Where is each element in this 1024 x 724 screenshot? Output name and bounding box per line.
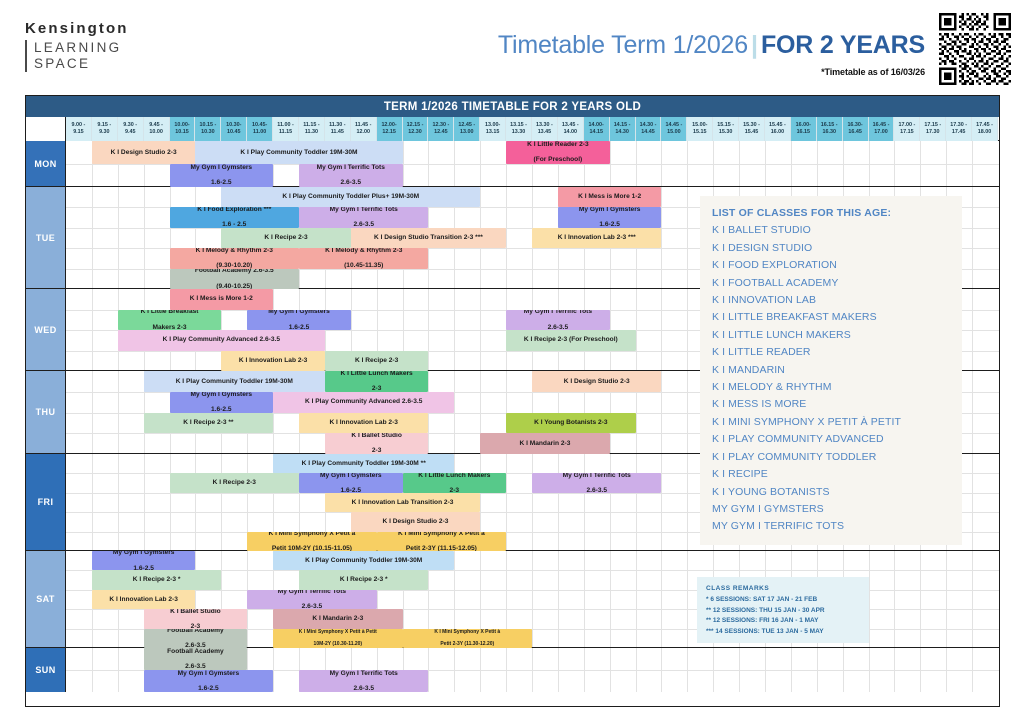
qr-code-icon[interactable] [939,13,1011,85]
time-slot-start: 12.30 - [432,122,449,130]
time-slot-header: 13.30 -13.45 [532,117,558,141]
class-event-line: K I Little Breakfast [141,310,199,316]
class-list-item: K I FOOTBALL ACADEMY [712,275,950,292]
class-event[interactable]: K I Little Reader 2-3(For Preschool) [506,141,610,164]
class-event-line: Football Academy [167,629,224,635]
class-event[interactable]: K I Melody & Rhythm 2-3(10.45-11.35) [299,248,428,268]
grid-vline [687,187,688,288]
day-row-mon: MONK I Design Studio 2-3K I Play Communi… [26,141,999,187]
class-event[interactable]: K I Mandarin 2-3 [273,609,402,628]
class-event[interactable]: K I Innovation Lab 2-3 [221,351,325,372]
class-event-line: 2-3 [191,623,201,629]
class-event[interactable]: K I Little BreakfastMakers 2-3 [118,310,222,331]
class-event[interactable]: K I Play Community Toddler 19M-30M [273,551,454,570]
class-event-line: K I Recipe 2-3 ** [183,419,233,427]
grid-vline [506,454,507,550]
class-event-line: Football Academy 2.6-3.5 [195,269,274,275]
grid-vline [920,551,921,647]
class-event-line: (For Preschool) [534,156,583,164]
title-age-group: FOR 2 YEARS [761,31,925,59]
time-slot-header: 15.15 -15.30 [713,117,739,141]
class-event[interactable]: K I Mini Symphony X Petit àPetit 2-3Y (1… [403,629,532,648]
class-event-line: K I Recipe 2-3 (For Preschool) [524,336,618,344]
time-slot-end: 17.15 [900,129,914,137]
brand-logo: Kensington LEARNING SPACE [25,20,129,72]
class-event[interactable]: K I Food Exploration ***1.6 - 2.5 [170,207,299,227]
class-event-line: K I Ballet Studio [170,609,221,615]
time-slot-start: 9.45 - [149,122,163,130]
class-event-line: K I Ballet Studio [351,433,402,440]
time-slot-end: 12.45 [434,129,448,137]
class-event-line: My Gym I Terrific Tots [330,207,398,213]
time-slot-start: 14.15 - [614,122,631,130]
time-slot-start: 15.15 - [717,122,734,130]
class-event-line: K I Innovation Lab 2-3 *** [558,234,636,242]
time-slot-start: 14.45 - [665,122,682,130]
class-event-line: 2.6-3.5 [353,685,374,692]
grid-vline [170,454,171,550]
class-event-line: K I Mini Symphony X Petit à Petit [299,629,377,635]
class-event[interactable]: K I Recipe 2-3 [170,473,299,492]
class-event[interactable]: My Gym I Terrific Tots2.6-3.5 [506,310,610,331]
time-slot-header: 10.45-11.00 [247,117,273,141]
class-event-line: K I Innovation Lab 2-3 [239,357,308,365]
time-slot-start: 14.00- [589,122,604,130]
time-slot-end: 11.30 [305,129,318,137]
time-slot-end: 17.45 [952,129,966,137]
time-slot-header: 16.45 -17.00 [869,117,895,141]
class-list-item: K I DESIGN STUDIO [712,240,950,257]
day-row-sun: SUNFootball Academy2.6-3.5My Gym I Gymst… [26,648,999,692]
class-event[interactable]: K I Recipe 2-3 (For Preschool) [506,330,635,351]
class-event[interactable]: K I Play Community Toddler 19M-30M ** [273,454,454,473]
class-event-line: K I Mini Symphony X Petit à [434,629,500,635]
class-event[interactable]: My Gym I Gymsters1.6-2.5 [558,207,662,227]
time-slot-header: 12.45 -13.00 [454,117,480,141]
class-event[interactable]: K I Ballet Studio2-3 [144,609,248,628]
time-slot-start: 15.00- [692,122,707,130]
time-slot-end: 12.30 [408,129,422,137]
grid-vline [144,454,145,550]
class-event[interactable]: K I Design Studio Transition 2-3 *** [351,228,506,248]
class-event-line: K I Design Studio 2-3 [111,149,177,157]
class-event-line: K I Mandarin 2-3 [519,440,570,448]
grid-vline [118,454,119,550]
class-event-line: Football Academy [167,648,224,655]
grid-vline [687,551,688,647]
time-slot-header: 13.45 -14.00 [558,117,584,141]
time-slot-start: 14.30 - [640,122,657,130]
class-list-item: K I PLAY COMMUNITY TODDLER [712,449,950,466]
time-slot-header: 14.30 -14.45 [636,117,662,141]
time-slot-header: 16.30-16.45 [843,117,869,141]
class-event-line: K I Innovation Lab 2-3 [329,419,398,427]
time-slot-end: 11.00 [253,129,266,137]
class-event-line: K I Mandarin 2-3 [312,615,363,623]
class-event[interactable]: K I Recipe 2-3 [221,228,350,248]
class-list-item: MY GYM I GYMSTERS [712,501,950,518]
class-list-item: K I FOOD EXPLORATION [712,257,950,274]
time-slot-end: 16.45 [848,129,862,137]
grid-vline [195,454,196,550]
class-list-heading: LIST OF CLASSES FOR THIS AGE: [712,205,950,222]
class-event-line: K I Play Community Toddler 19M-30M ** [302,460,426,468]
class-event-line: K I Design Studio 2-3 [383,518,449,526]
time-slot-end: 15.00 [667,129,681,137]
class-event[interactable]: My Gym I Terrific Tots2.6-3.5 [532,473,661,492]
class-event-line: My Gym I Terrific Tots [317,164,385,172]
class-list-item: K I MINI SYMPHONY X PETIT À PETIT [712,414,950,431]
grid-vline [558,551,559,647]
time-slot-start: 15.45 - [769,122,786,130]
time-slot-header: 13.00-13.15 [480,117,506,141]
time-slot-start: 11.15 - [303,122,320,130]
class-event[interactable]: My Gym I Gymsters1.6-2.5 [247,310,351,331]
class-event[interactable]: K I Design Studio 2-3 [92,141,196,164]
class-event-line: K I Play Community Advanced 2.6-3.5 [163,336,280,344]
class-event[interactable]: K I Ballet Studio2-3 [325,433,429,454]
time-slot-end: 14.15 [589,129,603,137]
class-event-line: K I Mini Symphony X Petit à [269,532,356,538]
grid-vline [661,551,662,647]
time-slot-end: 13.15 [486,129,500,137]
time-slot-header: 15.45 -16.00 [765,117,791,141]
grid-vline [972,551,973,647]
time-slot-start: 11.00 - [277,122,294,130]
class-event-line: 2.6-3.5 [586,487,607,493]
time-slot-end: 17.00 [874,129,888,137]
class-event-line: K I Mess is More 1-2 [578,193,641,201]
time-slot-end: 16.15 [797,129,811,137]
class-event-line: 2.6-3.5 [353,221,374,227]
time-slot-end: 14.00 [564,129,578,137]
time-slot-start: 16.00- [796,122,811,130]
class-event-line: My Gym I Gymsters [579,207,641,213]
grid-vline [610,454,611,550]
time-slot-end: 9.45 [125,129,136,137]
class-event[interactable]: K I Mini Symphony X Petit àPetit 10M-2Y … [247,532,376,551]
grid-vline [221,454,222,550]
class-event-line: (10.45-11.35) [344,262,383,268]
class-event-line: 2.6-3.5 [185,663,206,670]
class-event-line: K I Little Lunch Makers [341,371,413,378]
time-slot-header: 10.00-10.15 [170,117,196,141]
grid-vline [506,187,507,288]
class-event[interactable]: My Gym I Gymsters1.6-2.5 [170,392,274,413]
time-slot-start: 10.00- [174,122,189,130]
class-event[interactable]: K I Design Studio 2-3 [532,371,661,392]
class-event-line: K I Melody & Rhythm 2-3 [196,248,273,254]
day-label-fri: FRI [26,454,66,550]
class-event-line: My Gym I Gymsters [191,392,253,399]
brand-subtitle: LEARNING SPACE [25,40,129,72]
time-slot-header: 9.15 -9.30 [92,117,118,141]
time-slot-start: 17.00 - [898,122,915,130]
time-slot-start: 17.45 - [976,122,993,130]
class-event-line: My Gym I Gymsters [320,473,382,479]
title-term: Timetable Term 1/2026 [498,31,748,59]
time-slot-start: 15.30 - [743,122,760,130]
time-slot-header: 10.30-10.45 [221,117,247,141]
class-event-line: 1.6-2.5 [599,221,620,227]
class-event-line: K I Recipe 2-3 * [340,576,388,584]
class-event[interactable]: K I Play Community Toddler 19M-30M [144,371,325,392]
time-slot-header: 13.15 -13.30 [506,117,532,141]
grid-vline [532,551,533,647]
title-line: Timetable Term 1/2026|FOR 2 YEARS [405,30,925,61]
class-event-line: K I Play Community Advanced 2.6-3.5 [305,398,422,406]
class-event[interactable]: K I Mini Symphony X Petit à Petit10M-2Y … [273,629,402,648]
time-slot-header: 14.15 -14.30 [610,117,636,141]
time-slot-end: 12.00 [356,129,370,137]
time-slot-start: 9.30 - [123,122,137,130]
time-slot-start: 10.15 - [199,122,216,130]
class-event-line: (9.30-10.20) [216,262,252,268]
time-slot-header: 16.00-16.15 [791,117,817,141]
remarks-item: ** 12 SESSIONS: FRI 16 JAN - 1 MAY [706,616,860,627]
time-slot-header: 15.30 -15.45 [739,117,765,141]
class-event[interactable]: My Gym I Terrific Tots2.6-3.5 [299,670,428,692]
time-header-row: 9.00 -9.159.15 -9.309.30 -9.459.45 -10.0… [26,117,999,141]
time-slot-header: 11.30 -11.45 [325,117,351,141]
time-slot-header: 15.00-15.15 [687,117,713,141]
class-list-item: K I LITTLE BREAKFAST MAKERS [712,309,950,326]
class-event-line: My Gym I Gymsters [268,310,330,316]
grid-vline [894,551,895,647]
time-slot-end: 13.45 [538,129,552,137]
class-event-line: 10M-2Y (10.30-11.20) [314,641,363,647]
class-event[interactable]: Football Academy 2.6-3.5(9.40-10.25) [170,269,299,289]
time-slot-start: 11.45 - [355,122,372,130]
class-event-line: K I Innovation Lab 2-3 [109,596,178,604]
class-list-item: K I MELODY & RHYTHM [712,379,950,396]
class-event-line: K I Little Reader 2-3 [527,141,589,149]
class-event[interactable]: K I Play Community Toddler 19M-30M [195,141,402,164]
class-event-line: 1.6-2.5 [341,487,362,493]
time-slot-end: 10.45 [227,129,241,137]
time-slot-start: 16.15 - [821,122,838,130]
class-event[interactable]: K I Young Botanists 2-3 [506,413,635,434]
grid-vline [584,551,585,647]
time-slot-header: 14.00-14.15 [584,117,610,141]
grid-vline [532,454,533,550]
time-slot-end: 11.45 [331,129,344,137]
class-event-line: 1.6-2.5 [198,685,219,692]
time-slot-end: 14.30 [615,129,629,137]
time-slot-header: 17.45 -18.00 [972,117,998,141]
class-event-line: K I Play Community Toddler 19M-30M [176,378,293,386]
brand-name: Kensington [25,20,129,37]
class-event[interactable]: K I Recipe 2-3 * [92,570,221,589]
class-event[interactable]: Football Academy2.6-3.5 [144,648,248,670]
time-slot-end: 13.30 [512,129,526,137]
time-slot-start: 10.45- [252,122,267,130]
class-event-line: 2-3 [372,447,382,454]
class-event-line: Petit 2-3Y (11.30-12.20) [440,641,494,647]
class-event[interactable]: My Gym I Terrific Tots2.6-3.5 [299,164,403,187]
time-slot-header: 12.00-12.15 [377,117,403,141]
time-slot-start: 16.45 - [873,122,890,130]
class-event[interactable]: K I Mess is More 1-2 [170,289,274,310]
time-slot-end: 10.00 [149,129,163,137]
class-event[interactable]: K I Melody & Rhythm 2-3(9.30-10.20) [170,248,299,268]
time-slot-header: 17.00 -17.15 [894,117,920,141]
class-event[interactable]: My Gym I Terrific Tots2.6-3.5 [299,207,428,227]
grid-vline [661,187,662,288]
class-event[interactable]: K I Design Studio 2-3 [351,512,480,531]
time-slot-end: 10.15 [175,129,189,137]
class-event[interactable]: My Gym I Terrific Tots2.6-3.5 [247,590,376,609]
class-event-line: My Gym I Terrific Tots [278,590,346,596]
grid-vline [687,454,688,550]
class-event[interactable]: K I Little Lunch Makers2-3 [403,473,507,492]
class-event-line: K I Mess is More 1-2 [190,295,253,303]
day-label-sun: SUN [26,648,66,692]
page-title: Timetable Term 1/2026|FOR 2 YEARS *Timet… [405,30,925,77]
class-event[interactable]: My Gym I Gymsters1.6-2.5 [92,551,196,570]
brand-line-learning: LEARNING [34,40,129,56]
class-event-line: My Gym I Gymsters [113,551,175,557]
class-event-line: K I Play Community Toddler Plus+ 19M-30M [282,193,419,201]
time-slot-end: 14.45 [641,129,655,137]
time-slot-end: 15.30 [719,129,733,137]
grid-vline [636,454,637,550]
time-slot-start: 10.30- [226,122,241,130]
class-event-line: 2-3 [450,487,460,493]
class-event[interactable]: K I Play Community Advanced 2.6-3.5 [273,392,454,413]
class-event-line: K I Recipe 2-3 * [133,576,181,584]
time-slot-end: 11.15 [279,129,292,137]
class-event-line: 1.6-2.5 [211,406,232,413]
class-event-line: K I Little Lunch Makers [418,473,490,479]
time-slot-end: 9.15 [73,129,84,137]
time-slot-start: 13.15 - [510,122,527,130]
day-label-sat: SAT [26,551,66,647]
table-corner-cell [26,117,66,141]
time-slot-header: 11.00 -11.15 [273,117,299,141]
class-event-line: My Gym I Gymsters [178,670,240,677]
class-event-line: K I Melody & Rhythm 2-3 [325,248,402,254]
class-event[interactable]: My Gym I Gymsters1.6-2.5 [170,164,274,187]
time-slot-end: 12.15 [382,129,396,137]
class-event[interactable]: K I Little Lunch Makers2-3 [325,371,429,392]
class-event[interactable]: K I Recipe 2-3 * [299,570,428,589]
class-event[interactable]: K I Play Community Toddler Plus+ 19M-30M [221,187,480,207]
class-event-line: K I Design Studio 2-3 [564,378,630,386]
remarks-item: * 6 SESSIONS: SAT 17 JAN - 21 FEB [706,595,860,606]
time-slot-end: 16.00 [771,129,785,137]
class-list-item: K I BALLET STUDIO [712,222,950,239]
class-event[interactable]: K I Recipe 2-3 [325,351,429,372]
class-event-line: K I Design Studio Transition 2-3 *** [374,234,483,242]
class-event[interactable]: K I Innovation Lab 2-3 [92,590,196,609]
class-list-item: K I PLAY COMMUNITY ADVANCED [712,431,950,448]
time-slot-start: 17.30 - [950,122,967,130]
remarks-item: *** 14 SESSIONS: TUE 13 JAN - 5 MAY [706,627,860,638]
class-event[interactable]: K I Mini Symphony X Petit àPetit 2-3Y (1… [377,532,506,551]
grid-vline [584,454,585,550]
class-list-item: K I LITTLE LUNCH MAKERS [712,327,950,344]
class-event[interactable]: K I Play Community Advanced 2.6-3.5 [118,330,325,351]
grid-vline [610,551,611,647]
time-slot-header: 14.45 -15.00 [661,117,687,141]
class-event-line: My Gym I Terrific Tots [524,310,592,316]
time-slot-header: 11.15 -11.30 [299,117,325,141]
class-event[interactable]: K I Mandarin 2-3 [480,433,609,454]
time-slot-end: 18.00 [978,129,992,137]
grid-vline [558,454,559,550]
class-event[interactable]: Football Academy2.6-3.5 [144,629,248,648]
class-event-line: K I Food Exploration *** [197,207,271,213]
class-list-item: K I LITTLE READER [712,344,950,361]
class-list-item: K I MESS IS MORE [712,396,950,413]
time-slot-start: 13.30 - [536,122,553,130]
day-label-tue: TUE [26,187,66,288]
grid-vline [92,454,93,550]
day-label-thu: THU [26,371,66,453]
class-event[interactable]: K I Innovation Lab Transition 2-3 [325,493,480,512]
class-event-line: My Gym I Terrific Tots [330,670,398,677]
class-list-item: MY GYM I TERRIFIC TOTS [712,518,950,535]
class-remarks-panel: CLASS REMARKS* 6 SESSIONS: SAT 17 JAN - … [697,577,869,643]
class-list-item: K I YOUNG BOTANISTS [712,484,950,501]
time-slot-start: 12.00- [381,122,396,130]
class-event[interactable]: K I Innovation Lab 2-3 [299,413,428,434]
class-event-line: 1.6-2.5 [211,179,232,187]
time-slot-end: 10.30 [201,129,215,137]
time-slot-header: 9.45 -10.00 [144,117,170,141]
class-event-line: 1.6 - 2.5 [222,221,246,227]
time-slot-end: 9.30 [99,129,110,137]
remarks-item: ** 12 SESSIONS: THU 15 JAN - 30 APR [706,606,860,617]
grid-vline [636,551,637,647]
timetable-band-title: TERM 1/2026 TIMETABLE FOR 2 YEARS OLD [26,96,999,117]
time-slot-header: 12.15 -12.30 [403,117,429,141]
class-event-line: K I Play Community Toddler 19M-30M [240,149,357,157]
class-list-item: K I INNOVATION LAB [712,292,950,309]
class-event-line: My Gym I Terrific Tots [563,473,631,479]
time-slot-start: 12.15 - [407,122,424,130]
grid-vline [92,187,93,288]
class-event-line: K I Innovation Lab Transition 2-3 [352,499,454,507]
class-event[interactable]: My Gym I Gymsters1.6-2.5 [299,473,403,492]
time-slot-end: 15.15 [693,129,707,137]
time-slot-end: 15.45 [745,129,759,137]
time-slot-header: 12.30 -12.45 [428,117,454,141]
time-slot-start: 17.15 - [924,122,941,130]
day-label-wed: WED [26,289,66,370]
class-event[interactable]: K I Mess is More 1-2 [558,187,662,207]
class-event[interactable]: K I Innovation Lab 2-3 *** [532,228,661,248]
title-separator: | [748,31,761,59]
time-slot-start: 12.45 - [458,122,475,130]
class-event[interactable]: K I Recipe 2-3 ** [144,413,273,434]
time-slot-start: 9.15 - [97,122,111,130]
time-slot-end: 16.30 [822,129,836,137]
brand-line-space: SPACE [34,56,129,72]
class-list-panel: LIST OF CLASSES FOR THIS AGE:K I BALLET … [700,196,962,545]
time-slot-start: 13.00- [485,122,500,130]
class-event-line: 2-3 [372,385,382,392]
class-event[interactable]: My Gym I Gymsters1.6-2.5 [144,670,273,692]
time-slot-header: 10.15 -10.30 [195,117,221,141]
class-event-line: 2.6-3.5 [341,179,362,187]
time-slot-header: 17.15 -17.30 [920,117,946,141]
timetable-asof-note: *Timetable as of 16/03/26 [405,67,925,77]
time-slot-end: 17.30 [926,129,940,137]
time-slot-start: 16.30- [847,122,862,130]
class-event-line: My Gym I Gymsters [191,164,253,172]
